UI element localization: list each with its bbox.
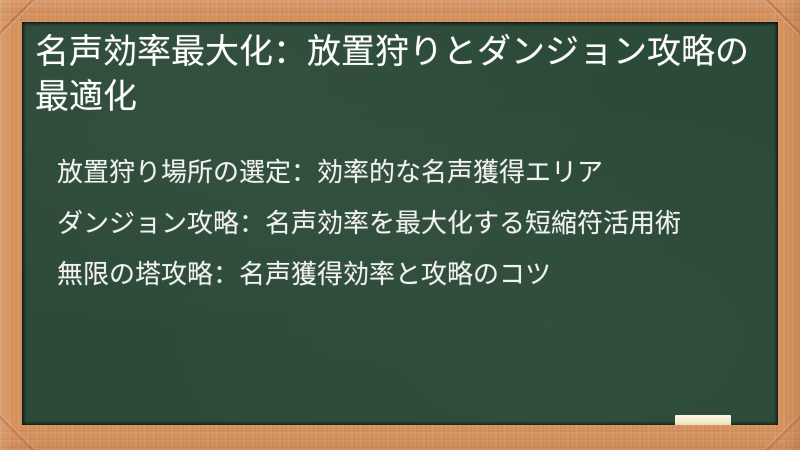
list-item: ダンジョン攻略：名声効率を最大化する短縮符活用術	[57, 205, 752, 243]
list-item: 放置狩り場所の選定：効率的な名声獲得エリア	[57, 154, 752, 192]
chalk-stick	[675, 415, 731, 425]
list-item: 無限の塔攻略：名声獲得効率と攻略のコツ	[57, 256, 752, 294]
chalkboard-surface: 名声効率最大化：放置狩りとダンジョン攻略の最適化 放置狩り場所の選定：効率的な名…	[22, 22, 778, 425]
slide-title: 名声効率最大化：放置狩りとダンジョン攻略の最適化	[35, 30, 752, 120]
topic-list: 放置狩り場所の選定：効率的な名声獲得エリア ダンジョン攻略：名声効率を最大化する…	[35, 154, 752, 294]
chalkboard-slide: 名声効率最大化：放置狩りとダンジョン攻略の最適化 放置狩り場所の選定：効率的な名…	[0, 0, 800, 450]
board-content: 名声効率最大化：放置狩りとダンジョン攻略の最適化 放置狩り場所の選定：効率的な名…	[22, 22, 778, 425]
